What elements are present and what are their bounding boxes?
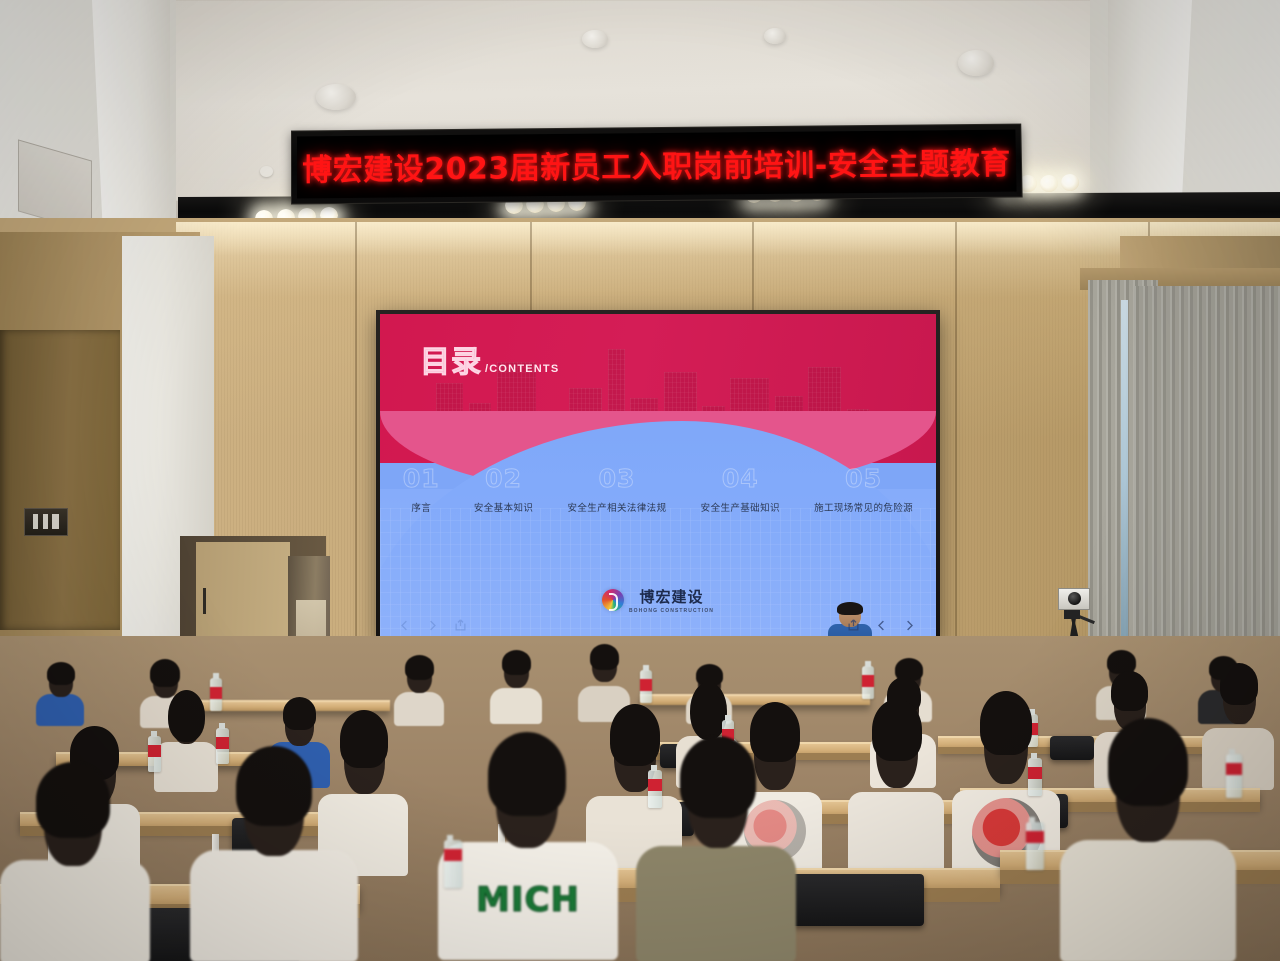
attendee-hair bbox=[980, 691, 1032, 755]
chevron-left-icon[interactable] bbox=[874, 618, 889, 633]
wall-seam bbox=[955, 222, 957, 642]
shirt-text-mich: MICH bbox=[438, 880, 618, 920]
slide-title-en: /CONTENTS bbox=[485, 363, 559, 375]
attendee-hair bbox=[1220, 663, 1258, 705]
attendee bbox=[848, 700, 944, 878]
water-bottle[interactable] bbox=[1226, 754, 1242, 798]
attendee-hair bbox=[488, 732, 566, 816]
water-bottle[interactable] bbox=[1026, 822, 1044, 870]
toc-number: 01 bbox=[403, 466, 440, 491]
attendee-mich-shirt: MICH bbox=[438, 730, 618, 960]
spotlight bbox=[1061, 174, 1079, 191]
led-banner: 博宏建设2023届新员工入职岗前培训-安全主题教育 bbox=[291, 124, 1023, 205]
video-camera bbox=[1058, 588, 1090, 610]
attendee-hair bbox=[236, 746, 312, 826]
attendee-hair bbox=[150, 659, 180, 687]
ceiling-speaker-icon bbox=[582, 30, 608, 48]
toc-label: 安全生产基础知识 bbox=[701, 500, 780, 514]
logo-name-cn: 博宏建设 bbox=[639, 586, 703, 607]
toc-item[interactable]: 05 施工现场常见的危险源 bbox=[810, 466, 917, 514]
door-handle[interactable] bbox=[203, 588, 206, 614]
attendee-shirt bbox=[490, 688, 542, 724]
attendee bbox=[0, 764, 150, 961]
led-banner-screen: 博宏建设2023届新员工入职岗前培训-安全主题教育 bbox=[297, 130, 1017, 199]
chevron-right-icon[interactable] bbox=[902, 618, 917, 633]
slide-title: 目录 /CONTENTS bbox=[420, 348, 559, 378]
logo-wordmark: 博宏建设 BOHONG CONSTRUCTION bbox=[629, 586, 714, 614]
attendee bbox=[1060, 722, 1236, 961]
toc-number: 03 bbox=[567, 466, 666, 491]
attendee-hair bbox=[872, 699, 922, 761]
attendee-shirt bbox=[848, 792, 944, 878]
spotlight bbox=[1040, 175, 1058, 192]
company-logo: 博宏建设 BOHONG CONSTRUCTION bbox=[380, 586, 936, 614]
slide-nav-left bbox=[397, 618, 468, 633]
ceiling-speaker-icon bbox=[764, 28, 786, 44]
logo-name-en: BOHONG CONSTRUCTION bbox=[629, 608, 714, 614]
attendee-hair bbox=[1111, 671, 1148, 711]
toc-item[interactable]: 02 安全基本知识 bbox=[470, 466, 537, 514]
toc-label: 序言 bbox=[403, 500, 440, 514]
wall-seam bbox=[355, 222, 357, 642]
attendee-hair bbox=[590, 644, 619, 670]
ceiling-speaker-icon bbox=[958, 50, 994, 76]
toc-number: 02 bbox=[474, 466, 533, 491]
slide-toc-list: 01 序言 02 安全基本知识 03 安全生产相关法律法规 04 安全生产基础知… bbox=[380, 466, 936, 514]
toc-label: 安全生产相关法律法规 bbox=[567, 500, 666, 514]
chevron-left-icon[interactable] bbox=[397, 618, 412, 633]
camera-lens-icon bbox=[1068, 592, 1081, 605]
water-bottle[interactable] bbox=[640, 670, 652, 703]
wall-cove-light bbox=[176, 222, 1280, 256]
attendee-hair bbox=[502, 650, 531, 675]
toc-item[interactable]: 04 安全生产基础知识 bbox=[697, 466, 784, 514]
toc-number: 04 bbox=[701, 466, 780, 491]
left-wall-niche bbox=[0, 330, 120, 630]
wall-sign bbox=[24, 508, 68, 536]
share-icon[interactable] bbox=[846, 618, 861, 633]
smoke-detector-icon bbox=[260, 166, 273, 177]
toc-label: 安全基本知识 bbox=[474, 500, 533, 514]
slide-nav-right bbox=[846, 618, 917, 633]
attendee-shirt bbox=[1060, 840, 1236, 961]
curtain-daylight-gap bbox=[1121, 300, 1128, 660]
logo-mark-icon bbox=[602, 589, 624, 611]
water-bottle[interactable] bbox=[444, 840, 462, 888]
attendee bbox=[636, 736, 796, 961]
attendee-hair bbox=[1108, 718, 1188, 806]
presentation-screen: 目录 /CONTENTS 01 序言 02 安全基本知识 03 安全生产相关法律… bbox=[376, 310, 940, 642]
training-room-photo: 博宏建设2023届新员工入职岗前培训-安全主题教育 bbox=[0, 0, 1280, 961]
toc-item[interactable]: 01 序言 bbox=[399, 466, 444, 514]
attendee bbox=[190, 746, 358, 961]
attendee-hair bbox=[168, 690, 205, 742]
attendee-hair bbox=[47, 662, 75, 685]
attendee-hair bbox=[680, 736, 756, 818]
attendee bbox=[36, 660, 84, 726]
led-banner-text: 博宏建设2023届新员工入职岗前培训-安全主题教育 bbox=[302, 139, 1011, 190]
attendee-hair bbox=[283, 697, 316, 730]
attendee-shirt bbox=[636, 846, 796, 961]
attendee-hair bbox=[405, 655, 434, 680]
slide-title-cn: 目录 bbox=[420, 348, 482, 378]
attendee-shirt bbox=[190, 850, 358, 961]
chevron-right-icon[interactable] bbox=[425, 618, 440, 633]
ceiling-speaker-icon bbox=[316, 84, 356, 110]
toc-label: 施工现场常见的危险源 bbox=[814, 500, 913, 514]
attendee-shirt bbox=[0, 860, 150, 961]
audience-area: MICH bbox=[0, 636, 1280, 961]
attendee bbox=[490, 650, 542, 724]
water-bottle[interactable] bbox=[1028, 758, 1042, 796]
toc-item[interactable]: 03 安全生产相关法律法规 bbox=[563, 466, 670, 514]
share-icon[interactable] bbox=[453, 618, 468, 633]
slide-contents: 目录 /CONTENTS 01 序言 02 安全基本知识 03 安全生产相关法律… bbox=[380, 314, 936, 638]
attendee-hair bbox=[36, 762, 110, 838]
tripod-pan-handle bbox=[1078, 615, 1095, 624]
toc-number: 05 bbox=[814, 466, 913, 491]
